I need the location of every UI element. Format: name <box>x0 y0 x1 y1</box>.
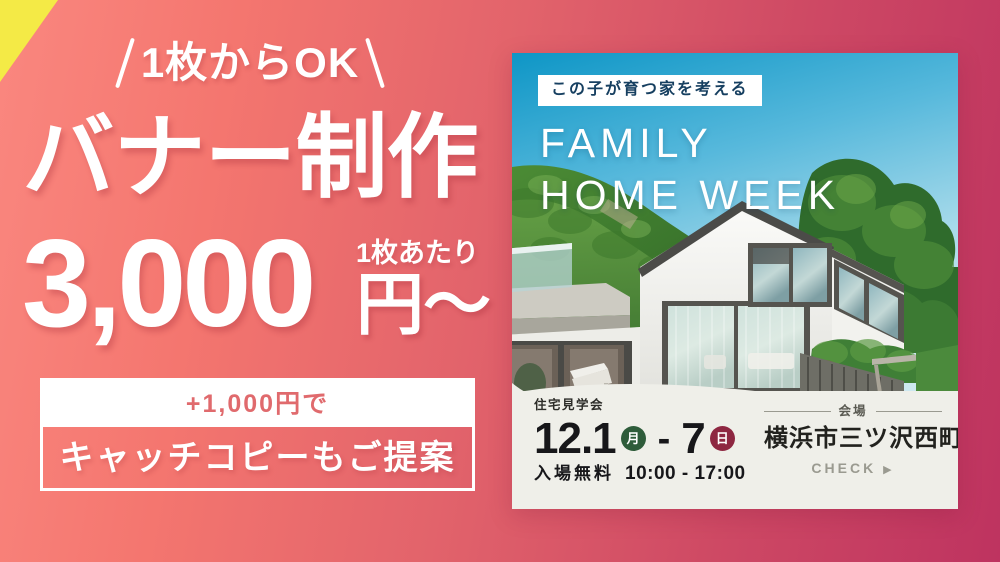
date-start-weekday-badge: 月 <box>621 426 646 451</box>
card-catchcopy-badge: この子が育つ家を考える <box>538 75 762 106</box>
kicker-text: 1枚からOK <box>141 42 359 84</box>
offer-bottom-row: キャッチコピーもご提案 <box>43 427 472 488</box>
promo-banner-stage: 1枚からOK バナー制作 3,000 1枚あたり 円〜 +1,000円で キャッ… <box>0 0 1000 562</box>
admission-hours-row: 入場無料 10:00 - 17:00 <box>534 464 774 483</box>
price-row: 3,000 1枚あたり 円〜 <box>14 222 500 352</box>
price-amount: 3,000 <box>22 222 312 346</box>
offer-box: +1,000円で キャッチコピーもご提案 <box>40 378 475 491</box>
venue-group: 会場 横浜市三ツ沢西町 CHECK ▶ <box>764 405 942 476</box>
slash-left-icon <box>115 38 135 89</box>
offer-bottom-label: キャッチコピーもご提案 <box>60 441 456 475</box>
event-hours: 10:00 - 17:00 <box>625 464 746 483</box>
event-date-range: 12.1 月 - 7 日 <box>534 416 774 462</box>
date-end-weekday-badge: 日 <box>710 426 735 451</box>
check-button[interactable]: CHECK ▶ <box>764 461 942 476</box>
venue-heading: 会場 <box>764 405 942 418</box>
house-photo: この子が育つ家を考える FAMILY HOME WEEK <box>512 53 958 405</box>
promo-left-panel: 1枚からOK バナー制作 3,000 1枚あたり 円〜 +1,000円で キャッ… <box>0 0 500 562</box>
check-label: CHECK <box>811 460 876 476</box>
venue-name: 横浜市三ツ沢西町 <box>764 427 942 451</box>
sample-banner-card[interactable]: この子が育つ家を考える FAMILY HOME WEEK 住宅見学会 12.1 … <box>512 53 958 509</box>
admission-label: 入場無料 <box>534 465 614 482</box>
play-arrow-icon: ▶ <box>883 464 894 476</box>
venue-rule-left-icon <box>764 411 831 412</box>
card-title: FAMILY HOME WEEK <box>540 117 840 222</box>
date-start: 12.1 <box>534 417 616 461</box>
kicker-row: 1枚からOK <box>0 32 500 94</box>
venue-rule-right-icon <box>876 411 943 412</box>
price-currency-suffix: 円〜 <box>356 271 496 339</box>
price-side-group: 1枚あたり 円〜 <box>356 240 496 339</box>
event-type-label: 住宅見学会 <box>534 399 774 412</box>
offer-top-label: +1,000円で <box>186 392 329 417</box>
date-end: 7 <box>681 417 704 461</box>
event-info-group: 住宅見学会 12.1 月 - 7 日 入場無料 10:00 - 17:00 <box>534 399 774 483</box>
card-catchcopy-text: この子が育つ家を考える <box>551 81 749 98</box>
card-info-bar: 住宅見学会 12.1 月 - 7 日 入場無料 10:00 - 17:00 会場 <box>512 391 958 509</box>
promo-headline: バナー制作 <box>0 112 500 204</box>
date-range-separator: - <box>658 420 671 458</box>
slash-right-icon <box>365 38 385 89</box>
offer-top-row: +1,000円で <box>43 381 472 427</box>
price-per-unit-label: 1枚あたり <box>356 240 496 267</box>
venue-label: 会場 <box>839 405 868 418</box>
